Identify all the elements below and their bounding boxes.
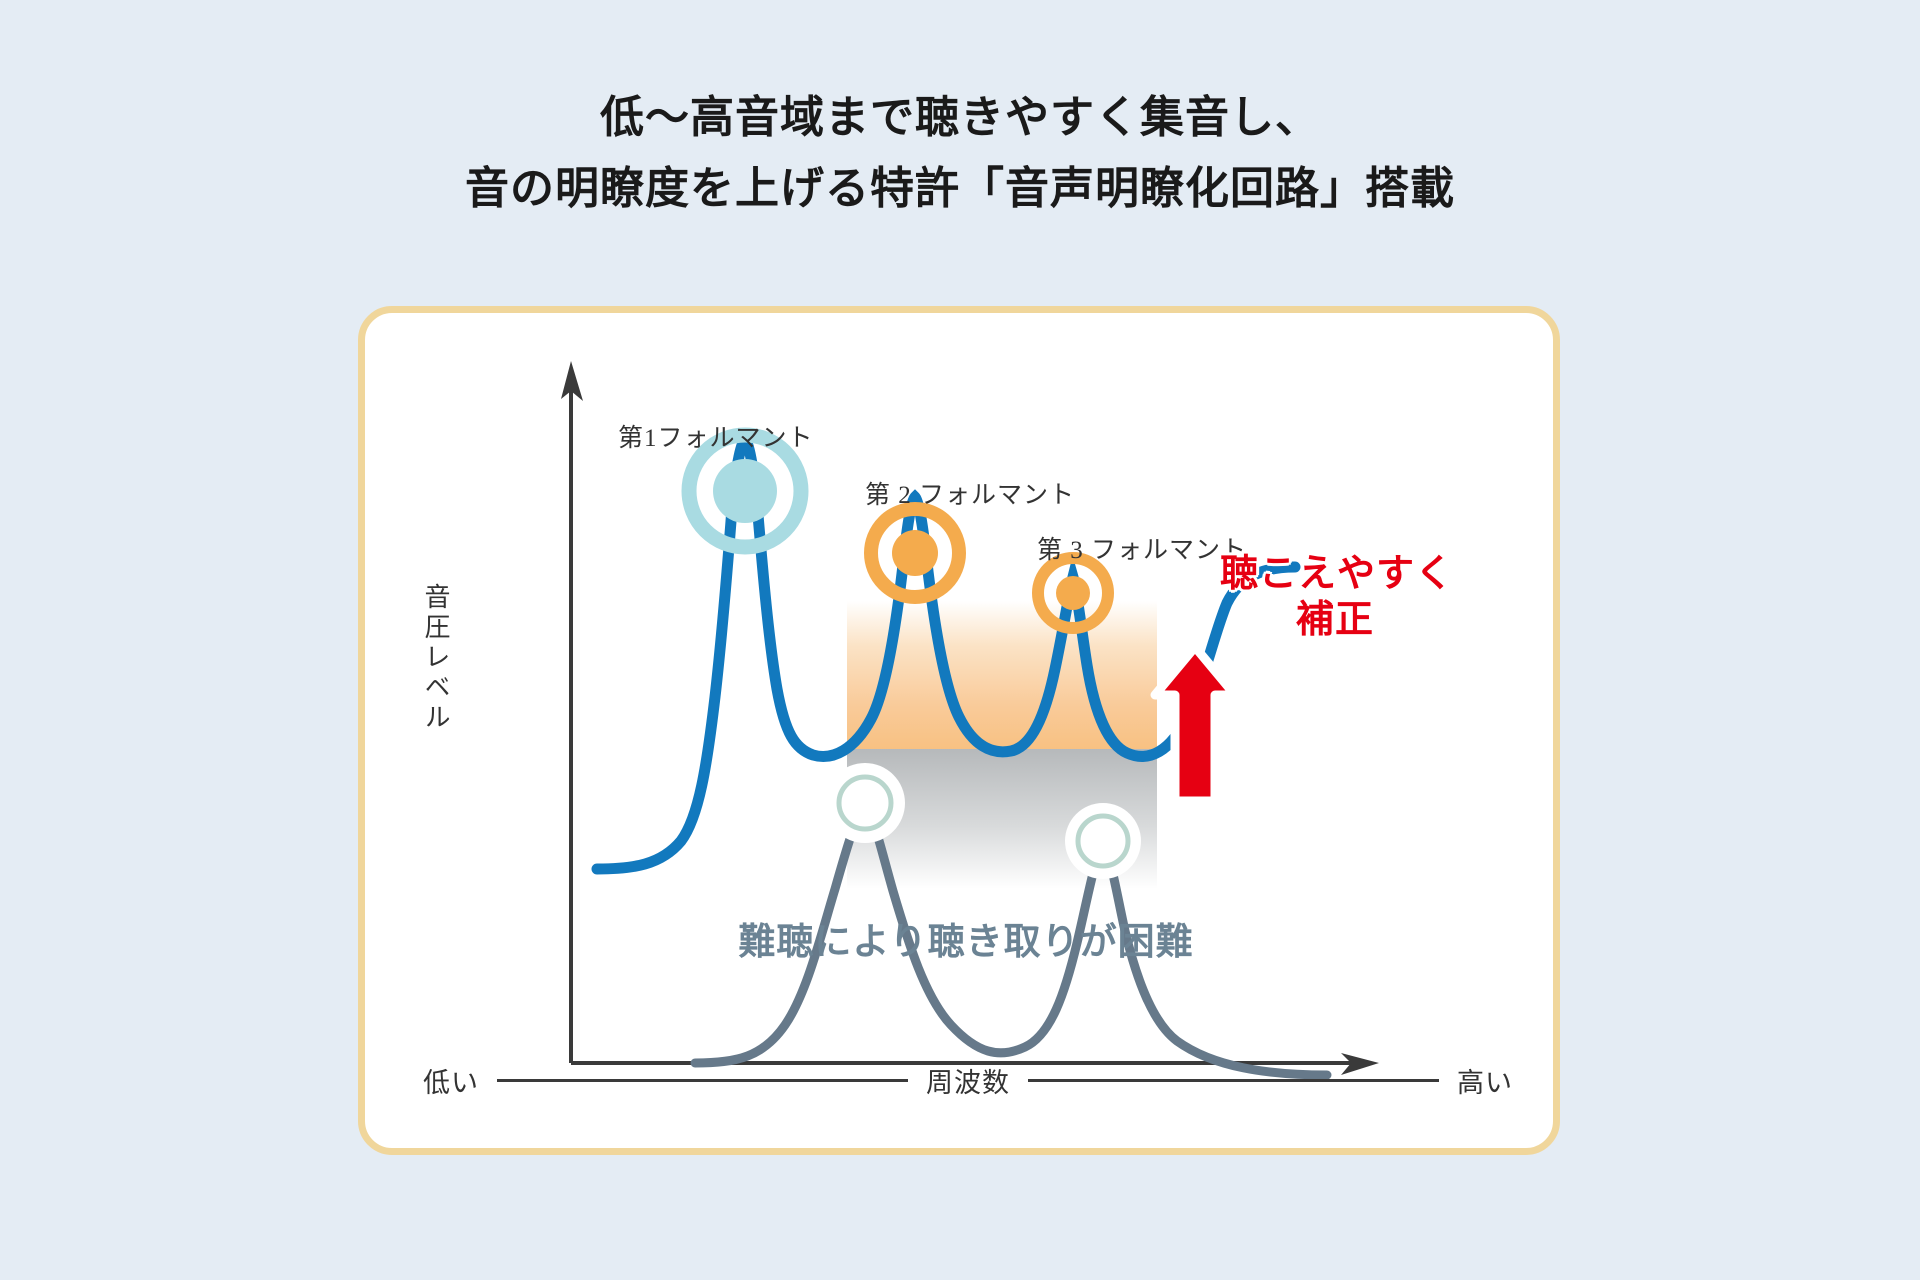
x-axis-rule-left xyxy=(497,1079,908,1082)
formant-1-label: 第1フォルマント xyxy=(618,418,814,454)
formant-2-label: 第 2 フォルマント xyxy=(865,475,1075,511)
title-line-1: 低〜高音域まで聴きやすく集音し、 xyxy=(0,82,1920,153)
chart-stage: 第1フォルマント 第 2 フォルマント 第 3 フォルマント 聴こえやすく 補正… xyxy=(365,313,1560,1155)
correction-arrow-icon xyxy=(1155,647,1235,801)
correction-callout-line-1: 聴こえやすく xyxy=(1220,551,1450,597)
x-axis-name-label: 周波数 xyxy=(926,1061,1010,1100)
x-axis-rule-right xyxy=(1028,1079,1439,1082)
formant-chart-svg xyxy=(365,313,1560,1155)
formant-3-faint-marker xyxy=(1065,803,1141,879)
correction-callout-line-2: 補正 xyxy=(1220,597,1450,643)
x-axis-low-label: 低い xyxy=(423,1061,479,1100)
y-axis-label: 音圧レベル xyxy=(415,583,455,733)
diagram-card: 第1フォルマント 第 2 フォルマント 第 3 フォルマント 聴こえやすく 補正… xyxy=(358,306,1560,1155)
hearing-loss-note: 難聴により聴き取りが困難 xyxy=(365,911,1560,965)
title-line-2: 音の明瞭度を上げる特許「音声明瞭化回路」搭載 xyxy=(0,153,1920,224)
formant-3-label: 第 3 フォルマント xyxy=(1037,530,1247,566)
page-title: 低〜高音域まで聴きやすく集音し、 音の明瞭度を上げる特許「音声明瞭化回路」搭載 xyxy=(0,82,1920,225)
formant-2-marker xyxy=(871,509,959,597)
formant-2-faint-marker xyxy=(825,763,905,843)
x-axis-high-label: 高い xyxy=(1457,1061,1513,1100)
correction-callout: 聴こえやすく 補正 xyxy=(1220,551,1450,644)
x-axis-caption: 低い 周波数 高い xyxy=(423,1061,1513,1100)
